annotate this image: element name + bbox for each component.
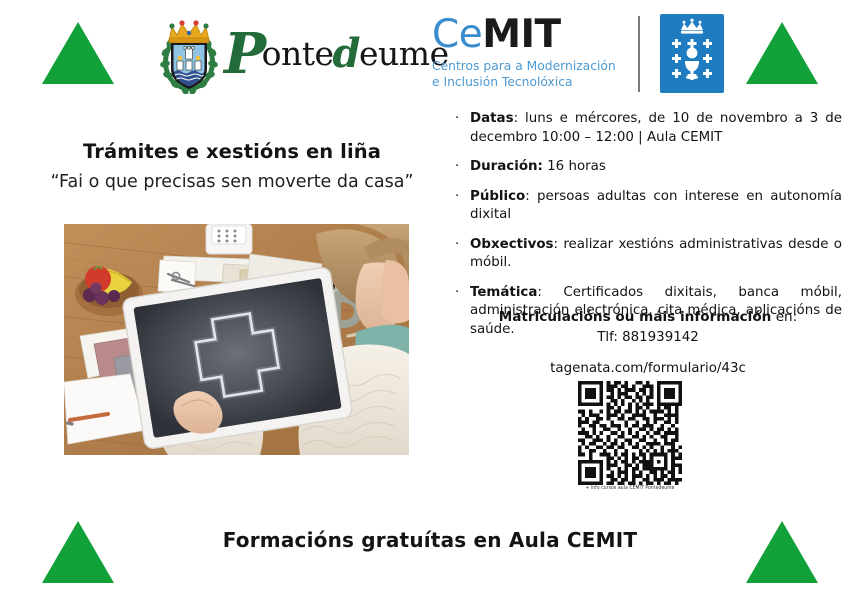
xunta-de-galicia-logo-icon [660,14,724,93]
bullet-label: Obxectivos [470,237,554,252]
qr-code-icon[interactable] [566,381,694,485]
bullet-marker: · [455,158,459,177]
list-item: ·Público: persoas adultas con interese e… [452,188,842,225]
contact-phone[interactable]: Tlf: 881939142 [452,328,844,347]
contact-headline-rest: en: [771,309,797,325]
bullet-marker: · [455,284,459,303]
qr-caption: + info cursos aula CEMIT Pontedeume [566,486,694,492]
poster-canvas: Pontedeume CeMIT Centros para a Moderniz… [0,0,860,608]
footer-headline: Formacións gratuítas en Aula CEMIT [0,528,860,552]
bullet-text: 16 horas [543,159,606,174]
list-item: ·Obxectivos: realizar xestións administr… [452,236,842,273]
wordmark-onte: onte [262,34,334,73]
bullet-label: Duración: [470,159,543,174]
cemit-title-mit: MIT [482,12,560,57]
course-photo [64,224,409,455]
cemit-logo: CeMIT Centros para a Modernización e Inc… [432,14,724,93]
header: Pontedeume CeMIT Centros para a Moderniz… [0,0,860,105]
cemit-title-ce: Ce [432,12,482,57]
wordmark-letter-d: d [333,30,360,77]
list-item: ·Duración: 16 horas [452,158,842,177]
contact-block: Matriculacións ou máis información en: T… [452,308,844,379]
cemit-subtitle: Centros para a Modernización e Inclusión… [432,58,616,90]
cemit-text-block: CeMIT Centros para a Modernización e Inc… [432,14,616,91]
pontedeume-logo: Pontedeume [158,12,449,94]
bullet-marker: · [455,110,459,129]
logo-divider [638,16,640,92]
registration-url[interactable]: tagenata.com/formulario/43c [452,359,844,378]
cemit-subtitle-line-2: e Inclusión Tecnolóxica [432,74,616,90]
qr-code-block[interactable]: + info cursos aula CEMIT Pontedeume [566,381,694,491]
cemit-subtitle-line-1: Centros para a Modernización [432,58,616,74]
list-item: ·Datas: luns e mércores, de 10 de novemb… [452,110,842,147]
bullet-label: Público [470,189,525,204]
bullet-text: luns e mércores, de 10 de novembro a 3 d… [470,111,842,145]
cemit-title: CeMIT [432,16,616,54]
course-title: Trámites e xestións en liña [36,140,428,163]
course-details-list: ·Datas: luns e mércores, de 10 de novemb… [452,110,842,339]
bullet-label: Datas [470,111,514,126]
bullet-label: Temática [470,285,537,300]
bullet-marker: · [455,236,459,255]
contact-headline: Matriculacións ou máis información en: [452,308,844,328]
course-tagline: “Fai o que precisas sen moverte da casa” [36,172,428,192]
bullet-marker: · [455,188,459,207]
pontedeume-coat-of-arms-icon [158,12,220,94]
wordmark-letter-p: P [224,21,266,87]
contact-headline-bold: Matriculacións ou máis información [499,309,772,325]
pontedeume-wordmark: Pontedeume [224,34,449,73]
